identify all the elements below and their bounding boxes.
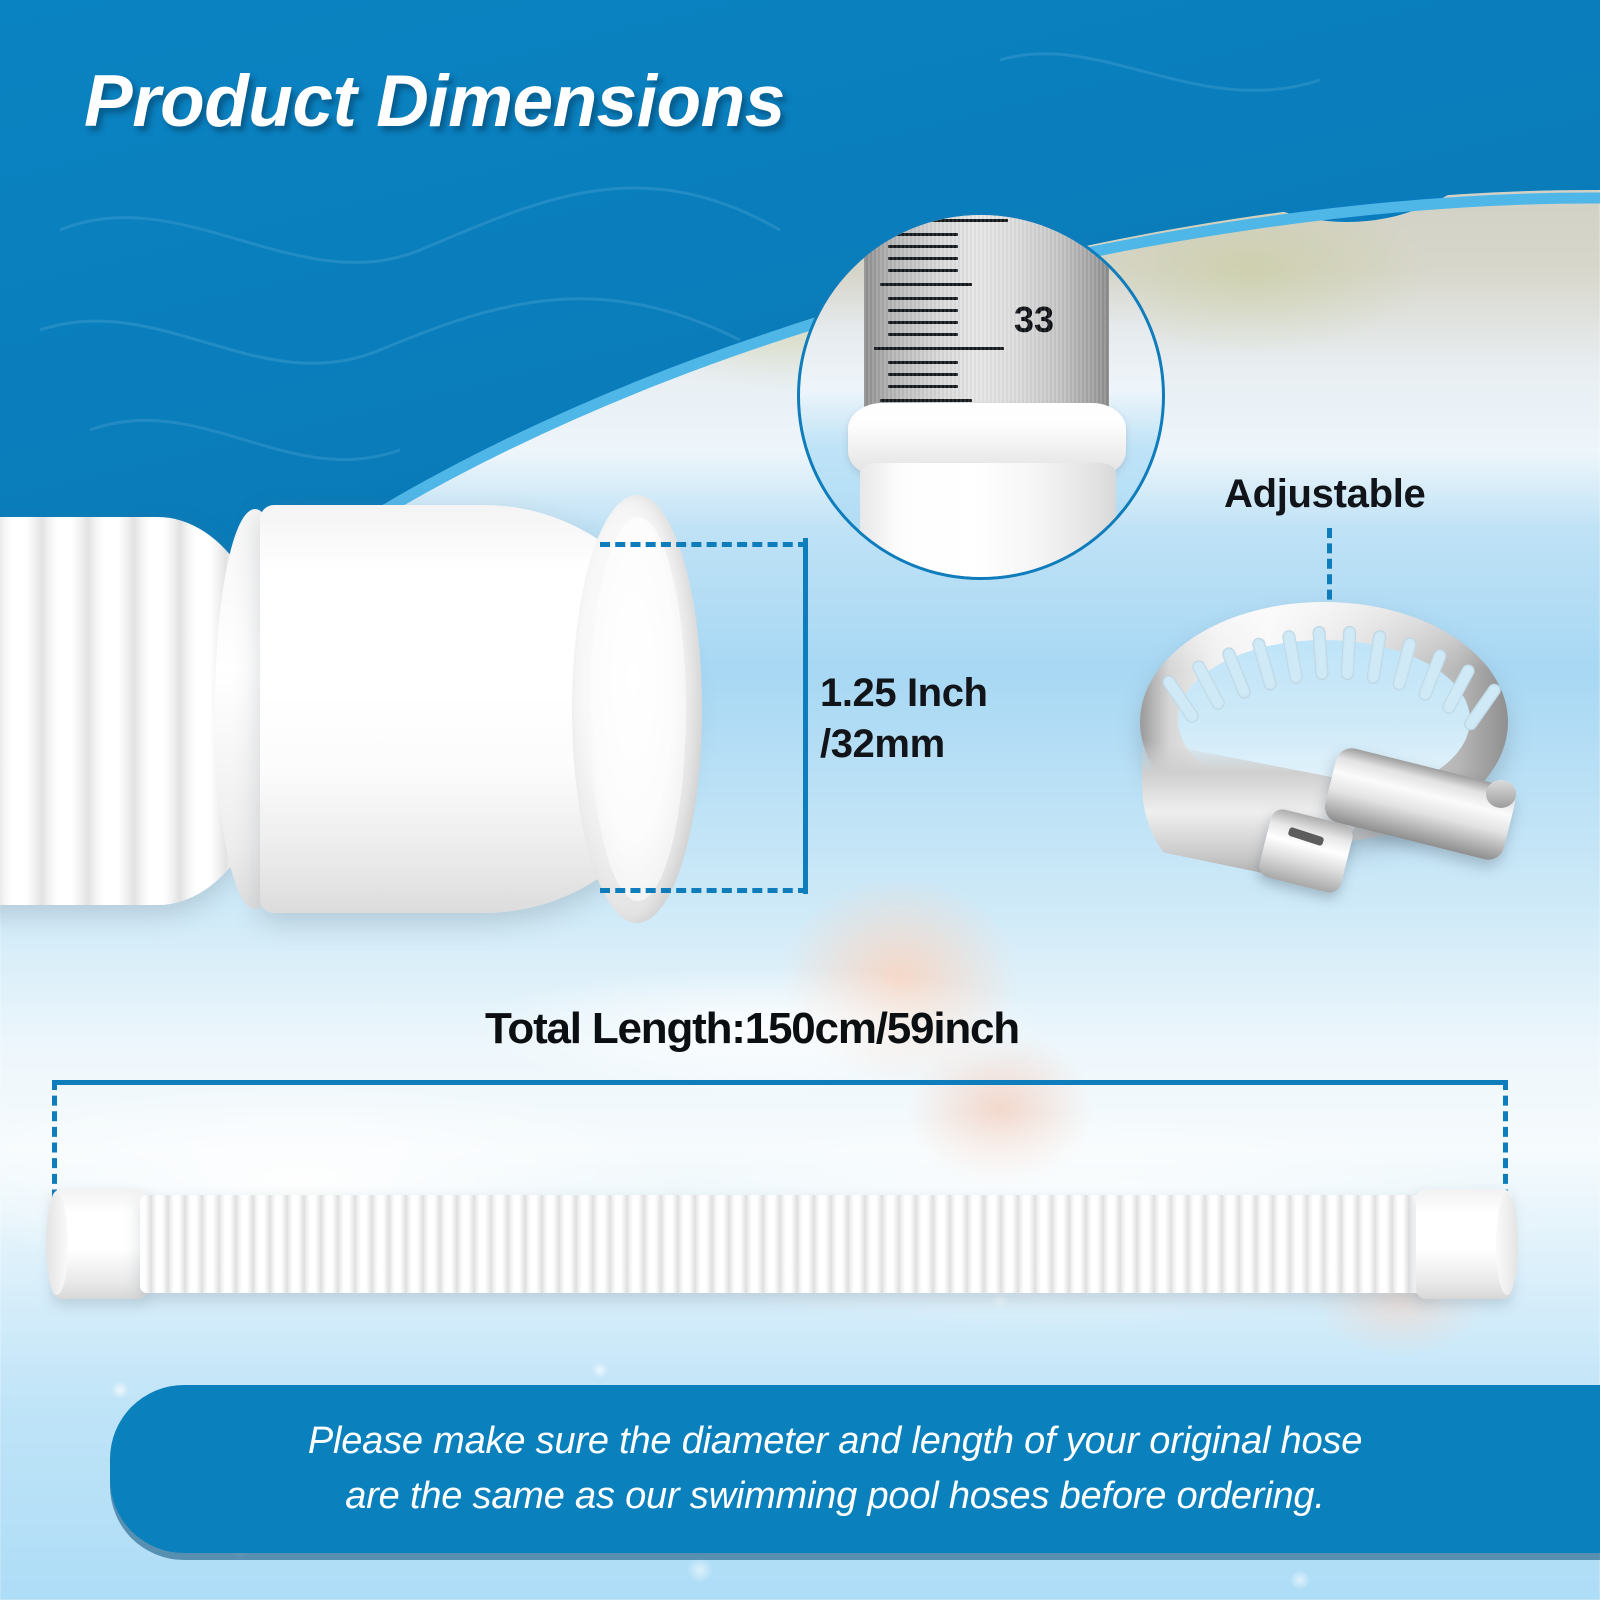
full-hose-photo bbox=[52, 1165, 1512, 1325]
footer-notice-text: Please make sure the diameter and length… bbox=[110, 1385, 1560, 1553]
clamp-slot bbox=[1341, 626, 1357, 681]
ruler-minor-tick bbox=[888, 257, 958, 260]
ruler-minor-tick bbox=[888, 245, 958, 248]
footer-notice-line-1: Please make sure the diameter and length… bbox=[308, 1414, 1362, 1469]
hose-right-cuff bbox=[1416, 1189, 1512, 1299]
ruler-major-tick bbox=[888, 219, 1008, 222]
clamp-slot bbox=[1190, 658, 1227, 712]
ruler-minor-tick bbox=[888, 309, 958, 312]
clamp-slot bbox=[1366, 629, 1387, 684]
hose-fitting-body bbox=[860, 463, 1116, 580]
clamp-slot bbox=[1251, 636, 1278, 691]
hose-left-cuff bbox=[52, 1189, 148, 1299]
ruler-mid-tick bbox=[880, 399, 972, 402]
clamp-slot bbox=[1281, 629, 1303, 684]
ruler-minor-tick bbox=[888, 233, 958, 236]
dimension-extension-line-bottom bbox=[600, 888, 808, 893]
dimension-measure-bar bbox=[803, 538, 808, 894]
ruler-label-33: 33 bbox=[1014, 299, 1054, 341]
ruler-major-tick bbox=[874, 347, 1004, 350]
ruler-minor-tick bbox=[888, 333, 958, 336]
diameter-label-inch: 1.25 Inch bbox=[820, 668, 988, 719]
clamp-slot bbox=[1391, 636, 1418, 692]
ruler-minor-tick bbox=[888, 385, 958, 388]
ruler-minor-tick bbox=[888, 361, 958, 364]
clamp-slot bbox=[1160, 673, 1201, 725]
hose-clamp-photo bbox=[1130, 580, 1530, 960]
footer-notice-line-2: are the same as our swimming pool hoses … bbox=[345, 1469, 1324, 1524]
clamp-slot bbox=[1462, 681, 1504, 733]
clamp-slot bbox=[1312, 626, 1329, 681]
page-title: Product Dimensions bbox=[84, 60, 785, 143]
diameter-label-mm: /32mm bbox=[820, 719, 988, 770]
ruler-mid-tick bbox=[880, 283, 972, 286]
diameter-label: 1.25 Inch /32mm bbox=[820, 668, 988, 770]
ruler-minor-tick bbox=[888, 297, 958, 300]
ruler-minor-tick bbox=[888, 269, 958, 272]
clamp-slot bbox=[1220, 646, 1252, 701]
footer-notice-banner: Please make sure the diameter and length… bbox=[110, 1385, 1600, 1553]
dimension-extension-line-top bbox=[600, 542, 808, 547]
total-length-label: Total Length:150cm/59inch bbox=[485, 1004, 1019, 1054]
clamp-screw-tip bbox=[1486, 780, 1516, 808]
clamp-slot-group bbox=[1140, 610, 1508, 730]
clamp-slot bbox=[1440, 662, 1477, 716]
clamp-slot bbox=[1417, 647, 1448, 702]
ruler-minor-tick bbox=[888, 373, 958, 376]
length-measure-line bbox=[52, 1080, 1508, 1085]
hose-ribbed-body bbox=[140, 1195, 1424, 1293]
product-dimensions-infographic: Product Dimensions bbox=[0, 0, 1600, 1600]
adjustable-label: Adjustable bbox=[1224, 472, 1425, 517]
ruler-minor-tick bbox=[888, 321, 958, 324]
